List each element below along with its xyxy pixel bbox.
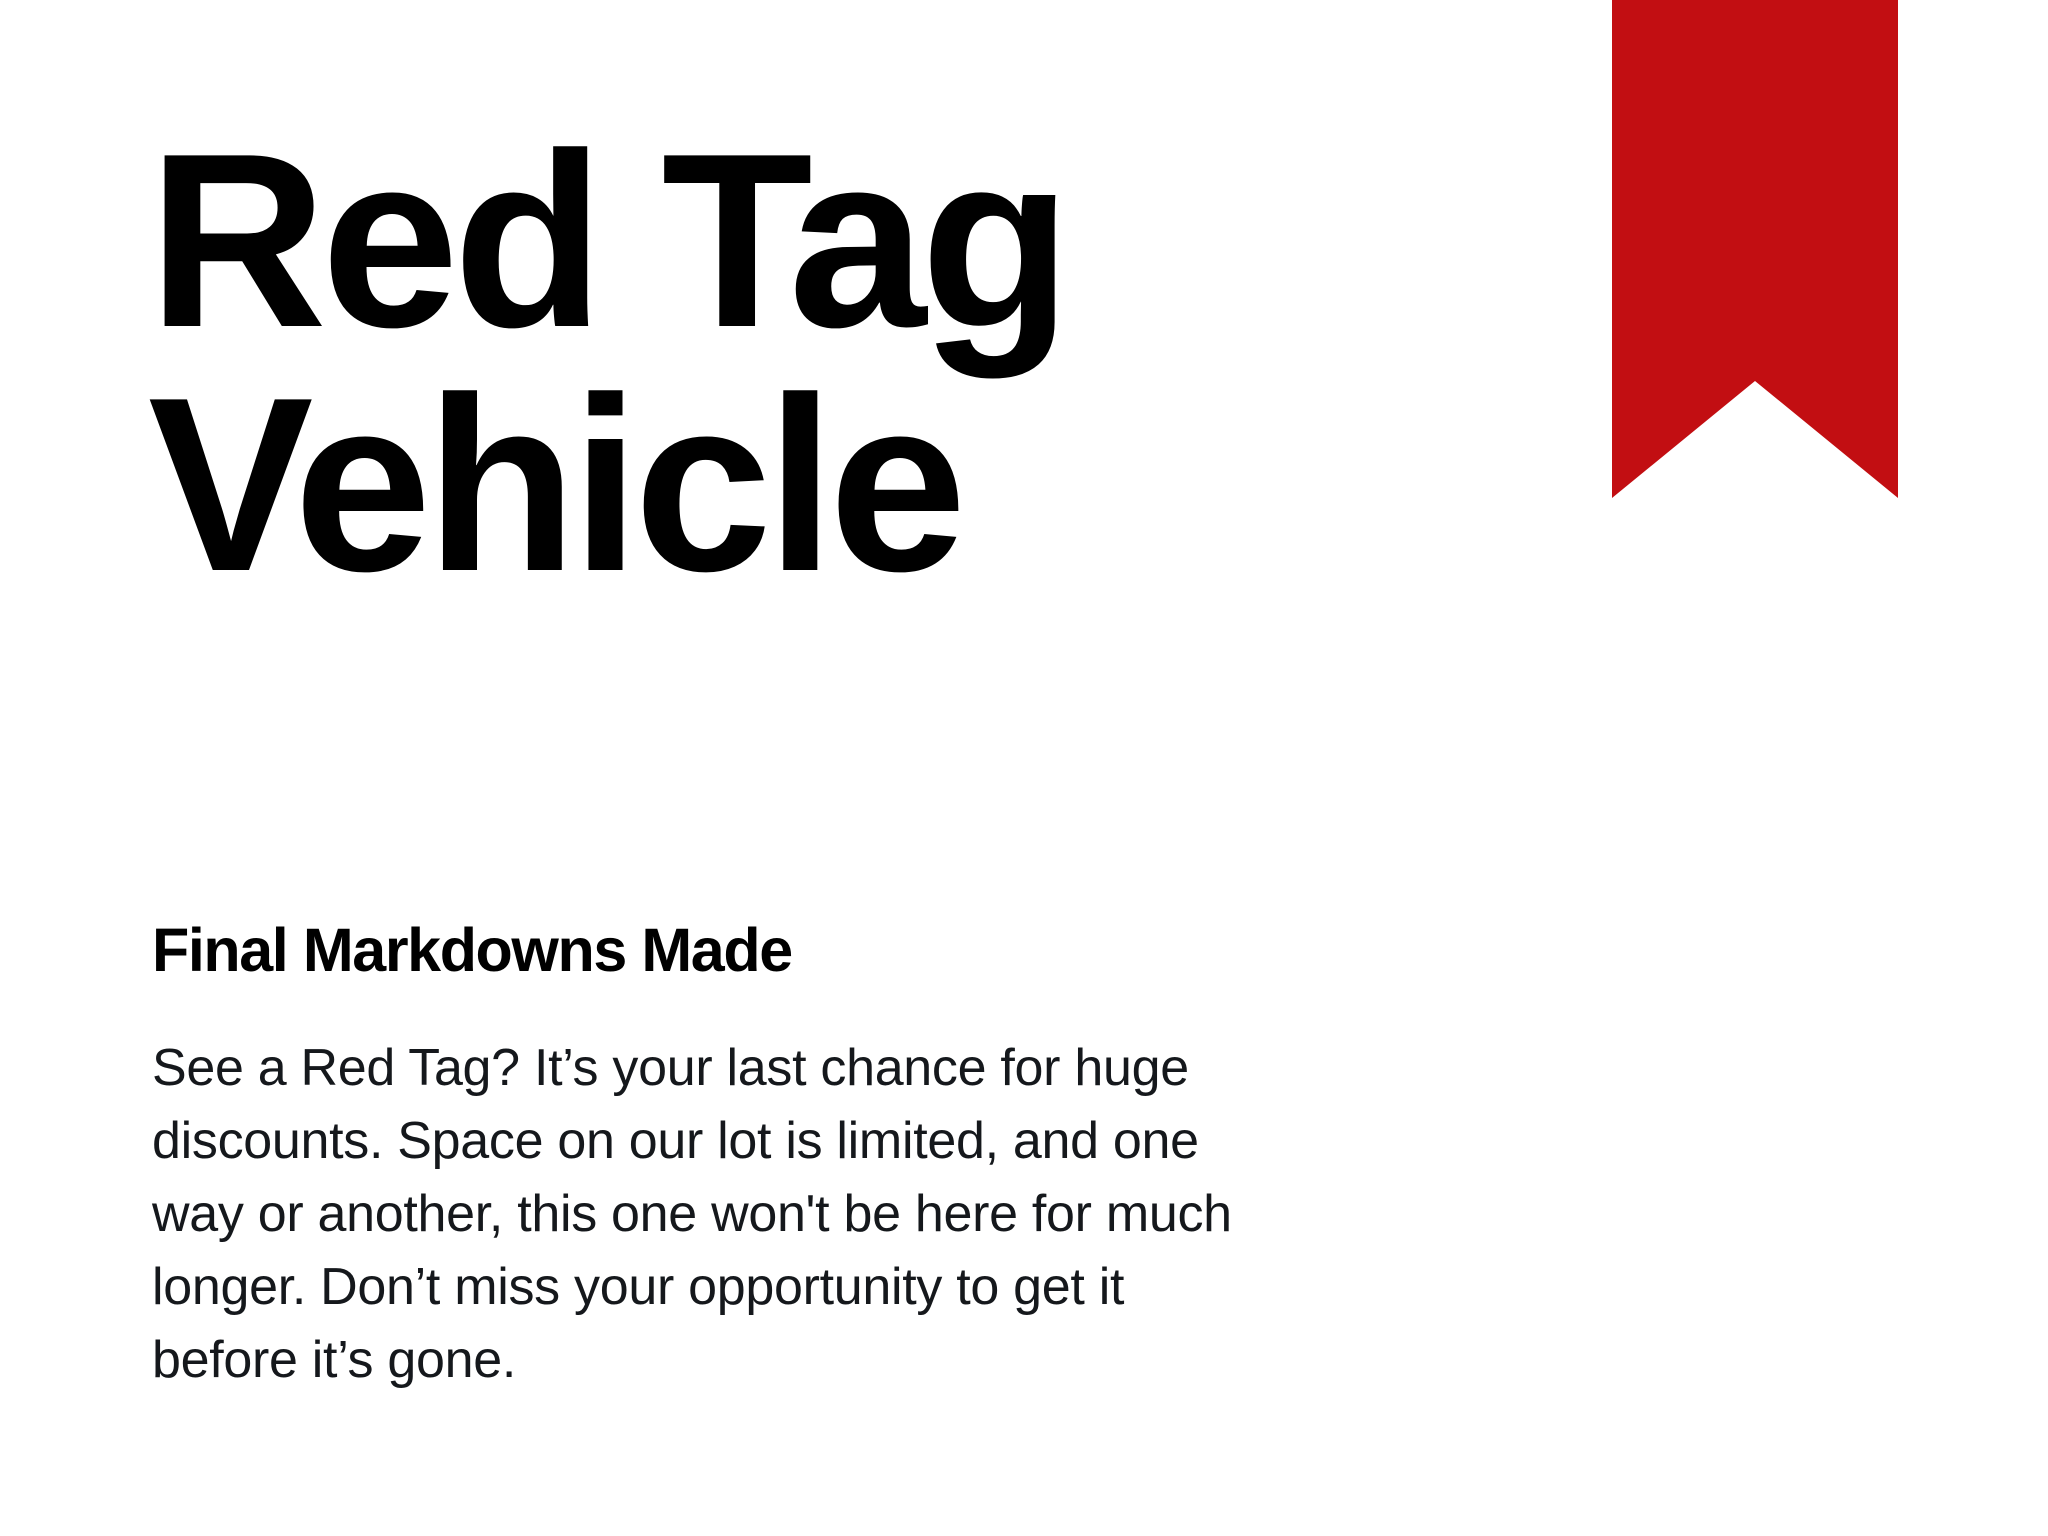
promo-card: Red Tag Vehicle Final Markdowns Made See… <box>0 0 2048 1536</box>
bookmark-ribbon-icon <box>1612 0 1898 498</box>
subheading: Final Markdowns Made <box>152 917 792 984</box>
page-title: Red Tag Vehicle <box>148 118 1448 607</box>
body-copy: See a Red Tag? It’s your last chance for… <box>152 1032 1262 1397</box>
